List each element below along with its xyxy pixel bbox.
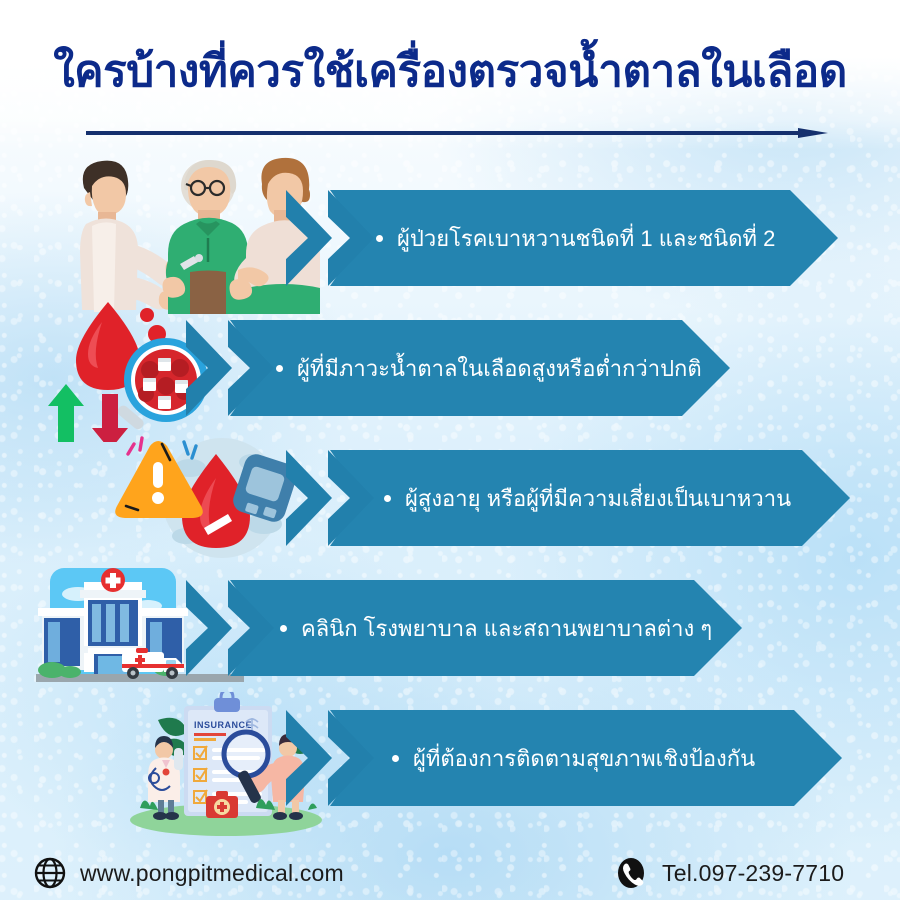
footer-website[interactable]: www.pongpitmedical.com [34,857,344,889]
list-item[interactable]: ผู้ที่มีภาวะน้ำตาลในเลือดสูงหรือต่ำกว่าป… [230,320,730,416]
phone-text: Tel.097-239-7710 [662,860,844,887]
infographic-canvas: ใครบ้างที่ควรใช้เครื่องตรวจน้ำตาลในเลือด [0,0,900,900]
list-item-label: ผู้ที่มีภาวะน้ำตาลในเลือดสูงหรือต่ำกว่าป… [297,351,702,386]
list-item[interactable]: คลินิก โรงพยาบาล และสถานพยาบาลต่าง ๆ [230,580,742,676]
list-item-text: ผู้ป่วยโรคเบาหวานชนิดที่ 1 และชนิดที่ 2 [376,190,775,286]
list-item-label: ผู้ที่ต้องการติดตามสุขภาพเชิงป้องกัน [413,741,755,776]
website-text: www.pongpitmedical.com [80,860,344,887]
bullet-icon [276,365,283,372]
list-item-label: ผู้ป่วยโรคเบาหวานชนิดที่ 1 และชนิดที่ 2 [397,221,775,256]
illustration-doctor-elderly-patient-consultation [62,152,322,314]
bullet-icon [376,235,383,242]
globe-icon [34,857,66,889]
list-item[interactable]: ผู้ป่วยโรคเบาหวานชนิดที่ 1 และชนิดที่ 2 [330,190,838,286]
list-item-label: ผู้สูงอายุ หรือผู้ที่มีความเสี่ยงเป็นเบา… [405,481,791,516]
list-item[interactable]: ผู้ที่ต้องการติดตามสุขภาพเชิงป้องกัน [330,710,842,806]
bullet-icon [392,755,399,762]
title-underline-arrow-icon [86,128,828,138]
list-item-text: ผู้สูงอายุ หรือผู้ที่มีความเสี่ยงเป็นเบา… [384,450,791,546]
list-item-text: คลินิก โรงพยาบาล และสถานพยาบาลต่าง ๆ [280,580,712,676]
list-item-label: คลินิก โรงพยาบาล และสถานพยาบาลต่าง ๆ [301,611,712,646]
bullet-icon [280,625,287,632]
list-item[interactable]: ผู้สูงอายุ หรือผู้ที่มีความเสี่ยงเป็นเบา… [330,450,850,546]
footer-phone[interactable]: Tel.097-239-7710 [614,856,844,890]
list-item-text: ผู้ที่มีภาวะน้ำตาลในเลือดสูงหรือต่ำกว่าป… [276,320,702,416]
phone-icon [614,856,648,890]
bullet-icon [384,495,391,502]
list-item-text: ผู้ที่ต้องการติดตามสุขภาพเชิงป้องกัน [392,710,755,806]
footer: www.pongpitmedical.com Tel.097-239-7710 [0,846,900,900]
insurance-label: INSURANCE [194,720,252,730]
page-title: ใครบ้างที่ควรใช้เครื่องตรวจน้ำตาลในเลือด [0,48,900,96]
